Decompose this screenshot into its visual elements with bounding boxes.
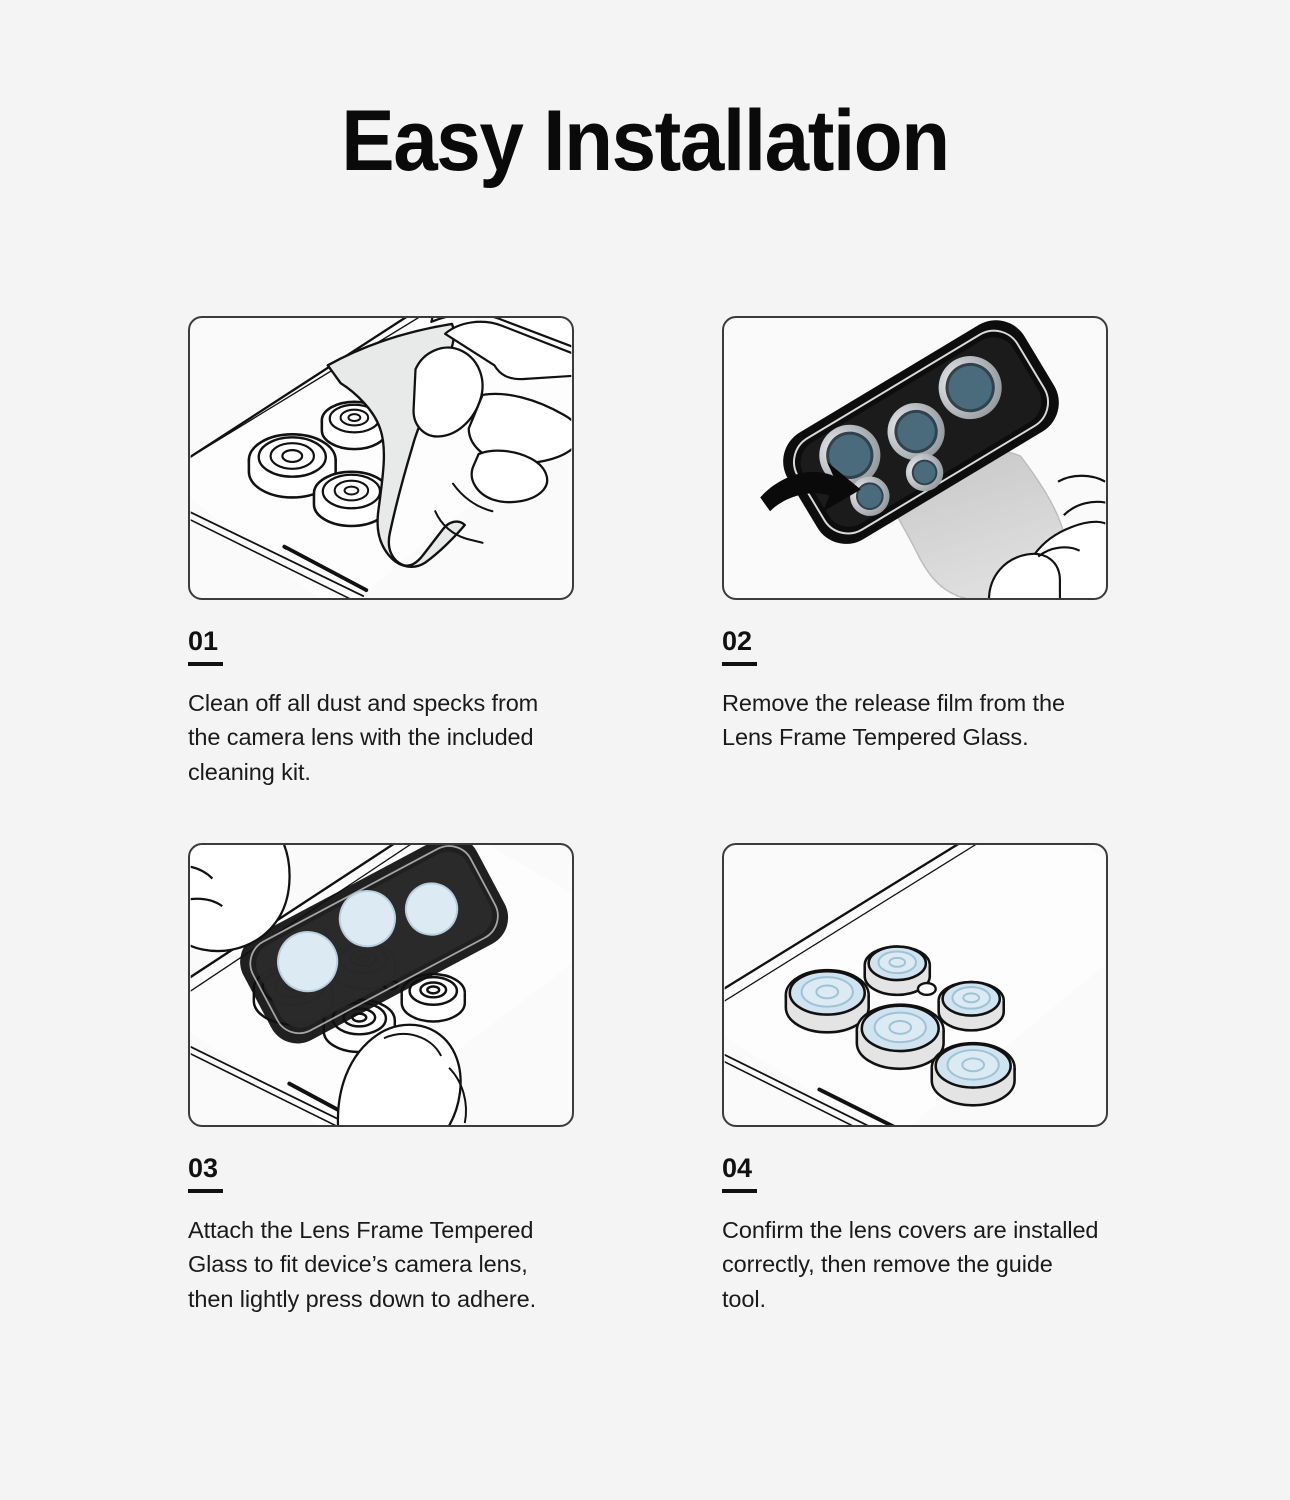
step-description: Remove the release film from the Lens Fr… bbox=[722, 686, 1102, 755]
step-number: 02 bbox=[722, 628, 752, 655]
step-number: 01 bbox=[188, 628, 218, 655]
step-description: Attach the Lens Frame Tempered Glass to … bbox=[188, 1213, 568, 1317]
step-description: Clean off all dust and specks from the c… bbox=[188, 686, 568, 790]
step-number-rule bbox=[188, 1189, 223, 1193]
step-03-illustration bbox=[188, 843, 574, 1127]
step-number: 03 bbox=[188, 1155, 218, 1182]
step-number-rule bbox=[722, 1189, 757, 1193]
step-02-illustration bbox=[722, 316, 1108, 600]
easy-installation-guide: Easy Installation bbox=[0, 0, 1290, 1500]
step-number: 04 bbox=[722, 1155, 752, 1182]
step-03: 03 Attach the Lens Frame Tempered Glass … bbox=[188, 843, 574, 1316]
step-02: 02 Remove the release film from the Lens… bbox=[722, 316, 1108, 755]
step-04-illustration bbox=[722, 843, 1108, 1127]
step-04: 04 Confirm the lens covers are installed… bbox=[722, 843, 1108, 1316]
page-title: Easy Installation bbox=[45, 96, 1245, 186]
step-01-illustration bbox=[188, 316, 574, 600]
step-number-rule bbox=[188, 662, 223, 666]
step-number-rule bbox=[722, 662, 757, 666]
step-description: Confirm the lens covers are installed co… bbox=[722, 1213, 1102, 1317]
step-01: 01 Clean off all dust and specks from th… bbox=[188, 316, 574, 789]
